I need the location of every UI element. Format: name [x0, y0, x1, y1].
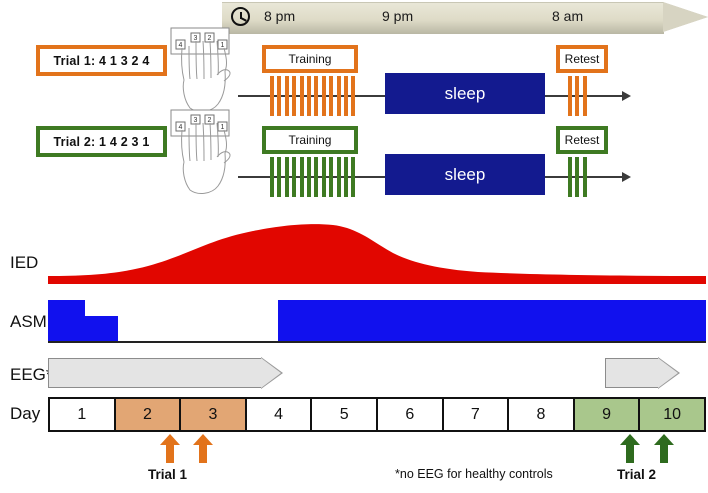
- trial-2-sleep-block: sleep: [385, 154, 545, 195]
- svg-text:1: 1: [221, 42, 225, 49]
- timeline-2-arrowhead: [622, 172, 631, 182]
- asm-baseline: [48, 341, 706, 343]
- trial-2-arrow-day9: [620, 434, 640, 463]
- day-cell-3[interactable]: 3: [179, 397, 245, 432]
- svg-text:1: 1: [221, 124, 225, 131]
- tick-mark: [322, 76, 326, 116]
- trial-2-retest-ticks: [568, 157, 587, 197]
- day-cell-8[interactable]: 8: [507, 397, 573, 432]
- footnote-text: *no EEG for healthy controls: [395, 467, 553, 481]
- trial-1-arrow-day3: [193, 434, 213, 463]
- svg-text:3: 3: [194, 117, 198, 124]
- row-label-day: Day: [10, 404, 40, 424]
- day-cell-9[interactable]: 9: [573, 397, 639, 432]
- time-tick-8am: 8 am: [552, 8, 583, 24]
- trial-2-sleep-label: sleep: [445, 165, 486, 185]
- hand-keypad-illustration-2: 4 3 2 1: [168, 108, 240, 196]
- trial-1-sequence-text: Trial 1: 4 1 3 2 4: [53, 54, 149, 68]
- tick-mark: [292, 76, 296, 116]
- row-label-eeg: EEG*: [10, 365, 53, 385]
- tick-mark: [351, 157, 355, 197]
- day-cell-7[interactable]: 7: [442, 397, 508, 432]
- trial-2-training-label: Training: [289, 133, 332, 147]
- asm-block-day1: [48, 300, 85, 342]
- trial-1-training-label: Training: [289, 52, 332, 66]
- tick-mark: [300, 157, 304, 197]
- trial-2-retest-box: Retest: [556, 126, 608, 154]
- tick-mark: [351, 76, 355, 116]
- tick-mark: [568, 76, 572, 116]
- tick-mark: [329, 157, 333, 197]
- day-cell-4[interactable]: 4: [245, 397, 311, 432]
- day-cell-2[interactable]: 2: [114, 397, 180, 432]
- banner-arrow-head: [663, 2, 708, 32]
- tick-mark: [314, 157, 318, 197]
- trial-2-retest-label: Retest: [565, 133, 600, 147]
- asm-block-resumed: [278, 300, 706, 342]
- trial-1-sleep-block: sleep: [385, 73, 545, 114]
- trial-1-training-ticks: [270, 76, 355, 116]
- day-cell-5[interactable]: 5: [310, 397, 376, 432]
- tick-mark: [285, 76, 289, 116]
- ied-curve: [48, 222, 706, 284]
- tick-mark: [307, 157, 311, 197]
- trial-2-training-ticks: [270, 157, 355, 197]
- hand-keypad-illustration-1: 4 3 2 1: [168, 26, 240, 114]
- timeline-1-arrowhead: [622, 91, 631, 101]
- svg-text:3: 3: [194, 35, 198, 42]
- tick-mark: [270, 76, 274, 116]
- tick-mark: [575, 76, 579, 116]
- tick-mark: [337, 76, 341, 116]
- day-cell-6[interactable]: 6: [376, 397, 442, 432]
- asm-block-day2: [85, 316, 118, 342]
- eeg-recording-block-1: [48, 358, 283, 388]
- trial-1-retest-ticks: [568, 76, 587, 116]
- tick-mark: [583, 157, 587, 197]
- svg-text:4: 4: [179, 124, 183, 131]
- row-label-ied: IED: [10, 253, 38, 273]
- tick-mark: [307, 76, 311, 116]
- tick-mark: [575, 157, 579, 197]
- tick-mark: [270, 157, 274, 197]
- clock-icon: [231, 7, 250, 26]
- trial-1-sleep-label: sleep: [445, 84, 486, 104]
- ied-baseline: [48, 279, 706, 282]
- tick-mark: [322, 157, 326, 197]
- tick-mark: [344, 76, 348, 116]
- tick-mark: [344, 157, 348, 197]
- day-cell-10[interactable]: 10: [638, 397, 706, 432]
- trial-2-caption: Trial 2: [617, 467, 656, 482]
- day-cell-1[interactable]: 1: [48, 397, 114, 432]
- tick-mark: [277, 76, 281, 116]
- trial-1-retest-box: Retest: [556, 45, 608, 73]
- tick-mark: [277, 157, 281, 197]
- eeg-recording-block-2: [605, 358, 680, 388]
- tick-mark: [568, 157, 572, 197]
- tick-mark: [314, 76, 318, 116]
- tick-mark: [329, 76, 333, 116]
- trial-2-sequence-box: Trial 2: 1 4 2 3 1: [36, 126, 167, 157]
- tick-mark: [292, 157, 296, 197]
- trial-1-arrow-day2: [160, 434, 180, 463]
- trial-2-arrow-day10: [654, 434, 674, 463]
- trial-1-sequence-box: Trial 1: 4 1 3 2 4: [36, 45, 167, 76]
- tick-mark: [285, 157, 289, 197]
- time-tick-8pm: 8 pm: [264, 8, 295, 24]
- svg-text:2: 2: [208, 35, 212, 42]
- trial-1-training-box: Training: [262, 45, 358, 73]
- trial-2-training-box: Training: [262, 126, 358, 154]
- time-tick-9pm: 9 pm: [382, 8, 413, 24]
- time-banner: 8 pm 9 pm 8 am: [222, 2, 708, 33]
- tick-mark: [583, 76, 587, 116]
- tick-mark: [300, 76, 304, 116]
- row-label-asm: ASM: [10, 312, 47, 332]
- svg-text:2: 2: [208, 117, 212, 124]
- trial-1-caption: Trial 1: [148, 467, 187, 482]
- svg-text:4: 4: [179, 42, 183, 49]
- tick-mark: [337, 157, 341, 197]
- trial-1-retest-label: Retest: [565, 52, 600, 66]
- trial-2-sequence-text: Trial 2: 1 4 2 3 1: [53, 135, 149, 149]
- day-timeline-row: 12345678910: [48, 397, 706, 432]
